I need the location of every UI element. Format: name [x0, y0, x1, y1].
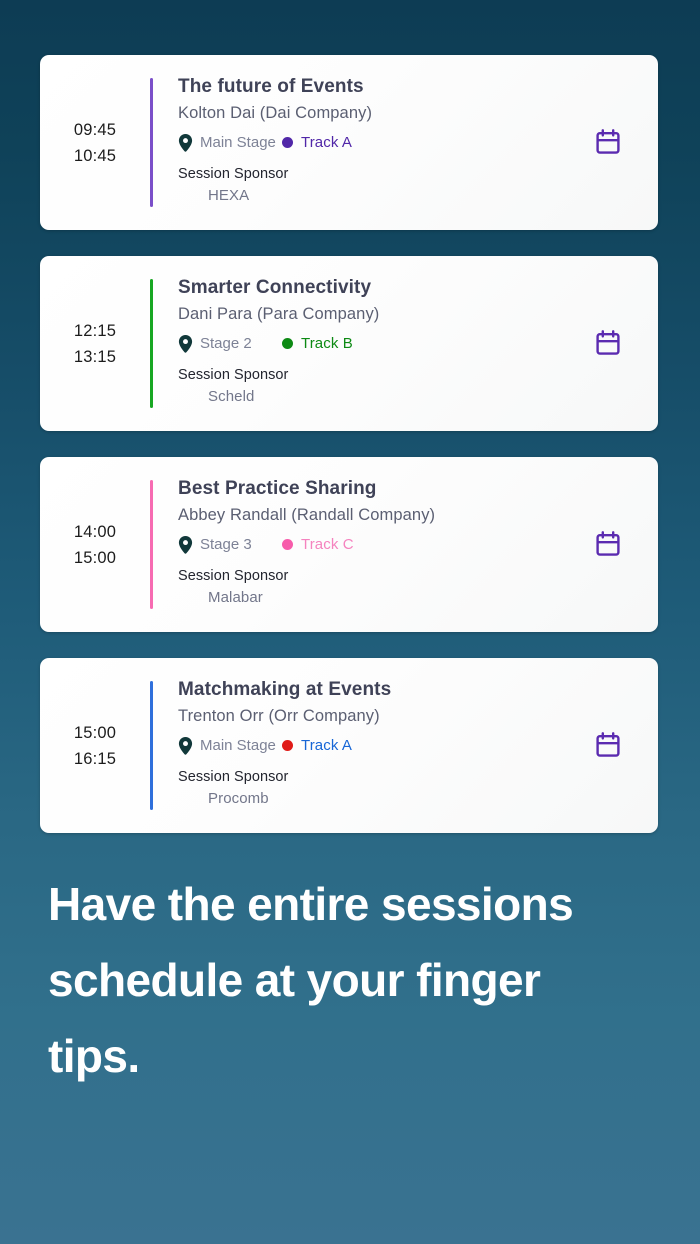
- session-end-time: 15:00: [74, 548, 116, 569]
- session-speaker: Dani Para (Para Company): [178, 303, 558, 326]
- session-stage-label: Stage 2: [200, 335, 252, 352]
- session-sponsor-label: Session Sponsor: [178, 166, 558, 182]
- session-speaker: Trenton Orr (Orr Company): [178, 705, 558, 728]
- session-track: Track B: [282, 335, 353, 352]
- session-sponsor-name: Procomb: [178, 790, 558, 807]
- session-stage: Main Stage: [178, 134, 282, 152]
- track-color-dot: [282, 740, 293, 751]
- calendar-icon[interactable]: [595, 732, 621, 758]
- session-end-time: 13:15: [74, 347, 116, 368]
- session-track-label: Track A: [301, 737, 352, 754]
- session-card[interactable]: 09:4510:45The future of EventsKolton Dai…: [40, 55, 658, 230]
- session-meta-row: Main StageTrack A: [178, 132, 558, 154]
- session-stage: Stage 3: [178, 536, 282, 554]
- session-track-label: Track A: [301, 134, 352, 151]
- session-details: The future of EventsKolton Dai (Dai Comp…: [153, 55, 558, 230]
- session-title: Smarter Connectivity: [178, 275, 558, 301]
- session-meta-row: Stage 2Track B: [178, 333, 558, 355]
- session-time: 15:0016:15: [40, 658, 150, 833]
- session-list: 09:4510:45The future of EventsKolton Dai…: [0, 0, 700, 833]
- session-end-time: 10:45: [74, 146, 116, 167]
- session-speaker: Kolton Dai (Dai Company): [178, 102, 558, 125]
- location-pin-icon: [178, 536, 193, 554]
- add-to-calendar-button[interactable]: [558, 658, 658, 833]
- session-card[interactable]: 15:0016:15Matchmaking at EventsTrenton O…: [40, 658, 658, 833]
- track-color-dot: [282, 539, 293, 550]
- location-pin-icon: [178, 335, 193, 353]
- headline-text: Have the entire sessions schedule at you…: [0, 867, 640, 1095]
- session-sponsor-label: Session Sponsor: [178, 769, 558, 785]
- session-start-time: 12:15: [74, 321, 116, 342]
- track-color-dot: [282, 137, 293, 148]
- session-track: Track A: [282, 134, 352, 151]
- session-time: 14:0015:00: [40, 457, 150, 632]
- session-sponsor-name: Scheld: [178, 388, 558, 405]
- session-title: Best Practice Sharing: [178, 476, 558, 502]
- session-track-label: Track C: [301, 536, 354, 553]
- session-track: Track C: [282, 536, 354, 553]
- session-details: Smarter ConnectivityDani Para (Para Comp…: [153, 256, 558, 431]
- add-to-calendar-button[interactable]: [558, 256, 658, 431]
- track-color-dot: [282, 338, 293, 349]
- session-sponsor-label: Session Sponsor: [178, 367, 558, 383]
- session-meta-row: Main StageTrack A: [178, 735, 558, 757]
- session-details: Best Practice SharingAbbey Randall (Rand…: [153, 457, 558, 632]
- session-card[interactable]: 12:1513:15Smarter ConnectivityDani Para …: [40, 256, 658, 431]
- session-stage-label: Main Stage: [200, 134, 276, 151]
- location-pin-icon: [178, 737, 193, 755]
- session-end-time: 16:15: [74, 749, 116, 770]
- session-speaker: Abbey Randall (Randall Company): [178, 504, 558, 527]
- session-details: Matchmaking at EventsTrenton Orr (Orr Co…: [153, 658, 558, 833]
- calendar-icon[interactable]: [595, 129, 621, 155]
- session-title: The future of Events: [178, 74, 558, 100]
- session-start-time: 15:00: [74, 723, 116, 744]
- session-stage-label: Stage 3: [200, 536, 252, 553]
- session-meta-row: Stage 3Track C: [178, 534, 558, 556]
- session-start-time: 14:00: [74, 522, 116, 543]
- session-time: 09:4510:45: [40, 55, 150, 230]
- session-sponsor-name: HEXA: [178, 187, 558, 204]
- add-to-calendar-button[interactable]: [558, 55, 658, 230]
- session-track-label: Track B: [301, 335, 353, 352]
- session-card[interactable]: 14:0015:00Best Practice SharingAbbey Ran…: [40, 457, 658, 632]
- session-title: Matchmaking at Events: [178, 677, 558, 703]
- location-pin-icon: [178, 134, 193, 152]
- session-stage: Main Stage: [178, 737, 282, 755]
- session-time: 12:1513:15: [40, 256, 150, 431]
- session-start-time: 09:45: [74, 120, 116, 141]
- session-track: Track A: [282, 737, 352, 754]
- session-sponsor-name: Malabar: [178, 589, 558, 606]
- calendar-icon[interactable]: [595, 330, 621, 356]
- session-stage-label: Main Stage: [200, 737, 276, 754]
- session-stage: Stage 2: [178, 335, 282, 353]
- calendar-icon[interactable]: [595, 531, 621, 557]
- add-to-calendar-button[interactable]: [558, 457, 658, 632]
- session-sponsor-label: Session Sponsor: [178, 568, 558, 584]
